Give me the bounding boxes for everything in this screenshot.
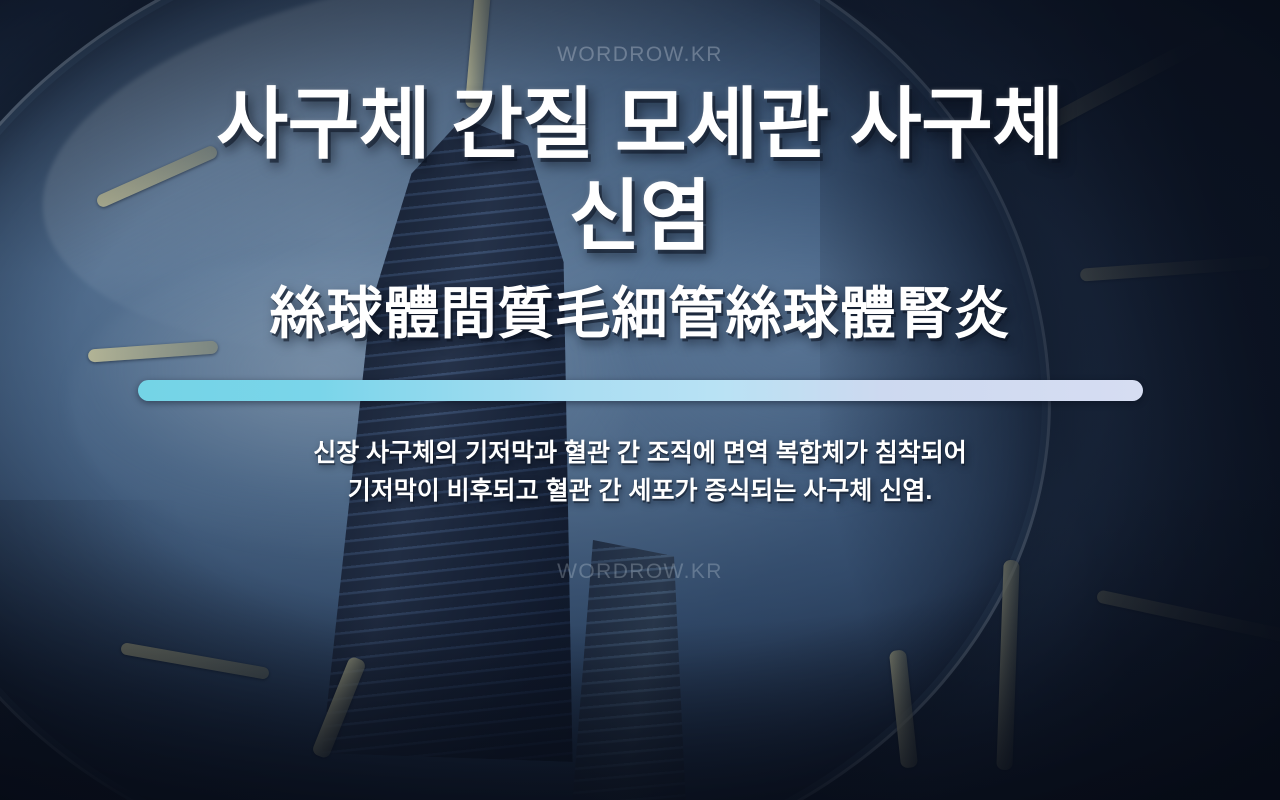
card-content: 사구체 간질 모세관 사구체 신염 絲球體間質毛細管絲球體腎炎 신장 사구체의 …	[0, 0, 1280, 800]
page-title-line-1: 사구체 간질 모세관 사구체	[216, 80, 1063, 168]
hanja-subtitle: 絲球體間質毛細管絲球體腎炎	[110, 284, 1170, 346]
definition-line-1: 신장 사구체의 기저막과 혈관 간 조직에 면역 복합체가 침착되어	[180, 434, 1100, 473]
word-definition-card: WORDROW.KR WORDROW.KR 사구체 간질 모세관 사구체 신염 …	[0, 0, 1280, 800]
page-title-line-2: 신염	[569, 172, 712, 260]
page-title: 사구체 간질 모세관 사구체 신염	[110, 78, 1170, 262]
definition-text: 신장 사구체의 기저막과 혈관 간 조직에 면역 복합체가 침착되어 기저막이 …	[180, 434, 1100, 511]
gradient-divider	[138, 380, 1143, 401]
definition-line-2: 기저막이 비후되고 혈관 간 세포가 증식되는 사구체 신염.	[180, 472, 1100, 511]
